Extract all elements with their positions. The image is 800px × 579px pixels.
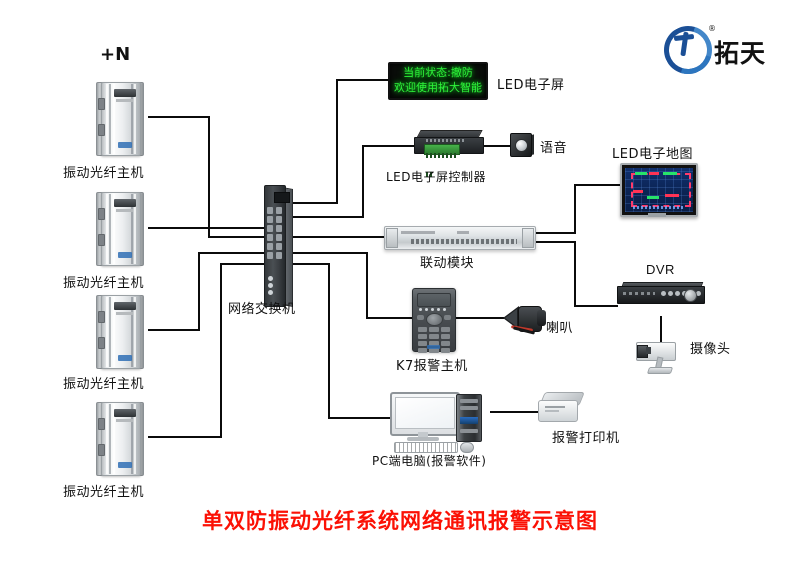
wire-pc-printer xyxy=(490,411,538,413)
wire-host3-v xyxy=(198,252,200,331)
printer-label: 报警打印机 xyxy=(552,427,620,446)
dvr-label: DVR xyxy=(646,262,675,277)
tuotian-circle-logo-icon xyxy=(662,24,708,66)
wire-host4-h xyxy=(148,436,222,438)
wire-host3-h xyxy=(148,329,200,331)
led-display-label: LED电子屏 xyxy=(497,74,564,93)
wire-linkage-dvr-v xyxy=(574,241,576,307)
wire-k7-siren xyxy=(456,317,504,319)
fiber-host-3-icon[interactable] xyxy=(96,295,144,367)
led-map-label: LED电子地图 xyxy=(612,143,693,162)
wire-dvr-camera xyxy=(660,316,662,342)
brand-name: 拓天 xyxy=(714,34,766,70)
siren-speaker-icon[interactable] xyxy=(503,303,551,333)
wire-switch-pc-v xyxy=(328,263,330,419)
diagram-title: 单双防振动光纤系统网络通讯报警示意图 xyxy=(0,505,800,535)
wire-linkage-out-top xyxy=(534,232,576,234)
fiber-host-4-label: 振动光纤主机 xyxy=(63,481,144,500)
alarm-host-label: K7报警主机 xyxy=(396,355,468,374)
wire-switch-ledctrl-v xyxy=(362,146,364,218)
printer-icon[interactable] xyxy=(538,392,582,424)
voice-label: 语音 xyxy=(540,137,567,156)
led-controller-icon[interactable] xyxy=(414,130,482,156)
wire-host4-v xyxy=(220,263,222,438)
wire-switch-ledscreen-v xyxy=(336,80,338,204)
wire-switch-ledscreen-h2 xyxy=(336,79,388,81)
wire-switch-pc-h2 xyxy=(328,417,390,419)
camera-label: 摄像头 xyxy=(690,338,731,357)
network-switch-label: 网络交换机 xyxy=(228,298,296,317)
alarm-host-icon[interactable] xyxy=(412,288,456,352)
wire-switch-ledctrl-h2 xyxy=(362,145,414,147)
led-screen-line1: 当前状态:撤防 xyxy=(390,65,486,80)
plus-n-label: +N xyxy=(100,44,130,65)
led-display-icon[interactable]: 当前状态:撤防 欢迎使用拓大智能 xyxy=(388,62,488,100)
wire-linkage-dvr-h xyxy=(574,305,618,307)
fiber-host-3-label: 振动光纤主机 xyxy=(63,373,144,392)
wire-linkage-out-bot xyxy=(534,241,576,243)
brand-logo: ® 拓天 xyxy=(662,24,782,68)
fiber-host-1-label: 振动光纤主机 xyxy=(63,162,144,181)
fiber-host-2-label: 振动光纤主机 xyxy=(63,272,144,291)
linkage-module-label: 联动模块 xyxy=(420,252,474,271)
network-switch-icon[interactable] xyxy=(258,185,292,305)
fiber-host-1-icon[interactable] xyxy=(96,82,144,154)
led-map-icon[interactable] xyxy=(620,163,694,217)
registered-mark: ® xyxy=(708,24,716,33)
fiber-host-2-icon[interactable] xyxy=(96,192,144,264)
wire-switch-k7-h2 xyxy=(366,317,412,319)
camera-icon[interactable] xyxy=(636,340,686,378)
linkage-module-icon[interactable] xyxy=(384,226,536,250)
diagram-canvas: ® 拓天 +N xyxy=(0,0,800,579)
pc-label: PC端电脑(报警软件) xyxy=(372,452,486,469)
wire-host1-h xyxy=(148,116,210,118)
wire-linkage-map-h xyxy=(574,184,620,186)
voice-module-icon[interactable] xyxy=(510,133,534,157)
wire-host1-v xyxy=(208,116,210,238)
wire-switch-k7-v xyxy=(366,252,368,318)
led-controller-label: LED电子屏控制器 xyxy=(386,168,486,185)
wire-linkage-map-v xyxy=(574,184,576,234)
siren-label: 喇叭 xyxy=(546,317,573,336)
led-screen-line2: 欢迎使用拓大智能 xyxy=(390,80,486,95)
dvr-icon[interactable] xyxy=(617,282,703,304)
wire-host2-h xyxy=(148,227,268,229)
fiber-host-4-icon[interactable] xyxy=(96,402,144,474)
desktop-computer-icon[interactable] xyxy=(390,392,494,450)
